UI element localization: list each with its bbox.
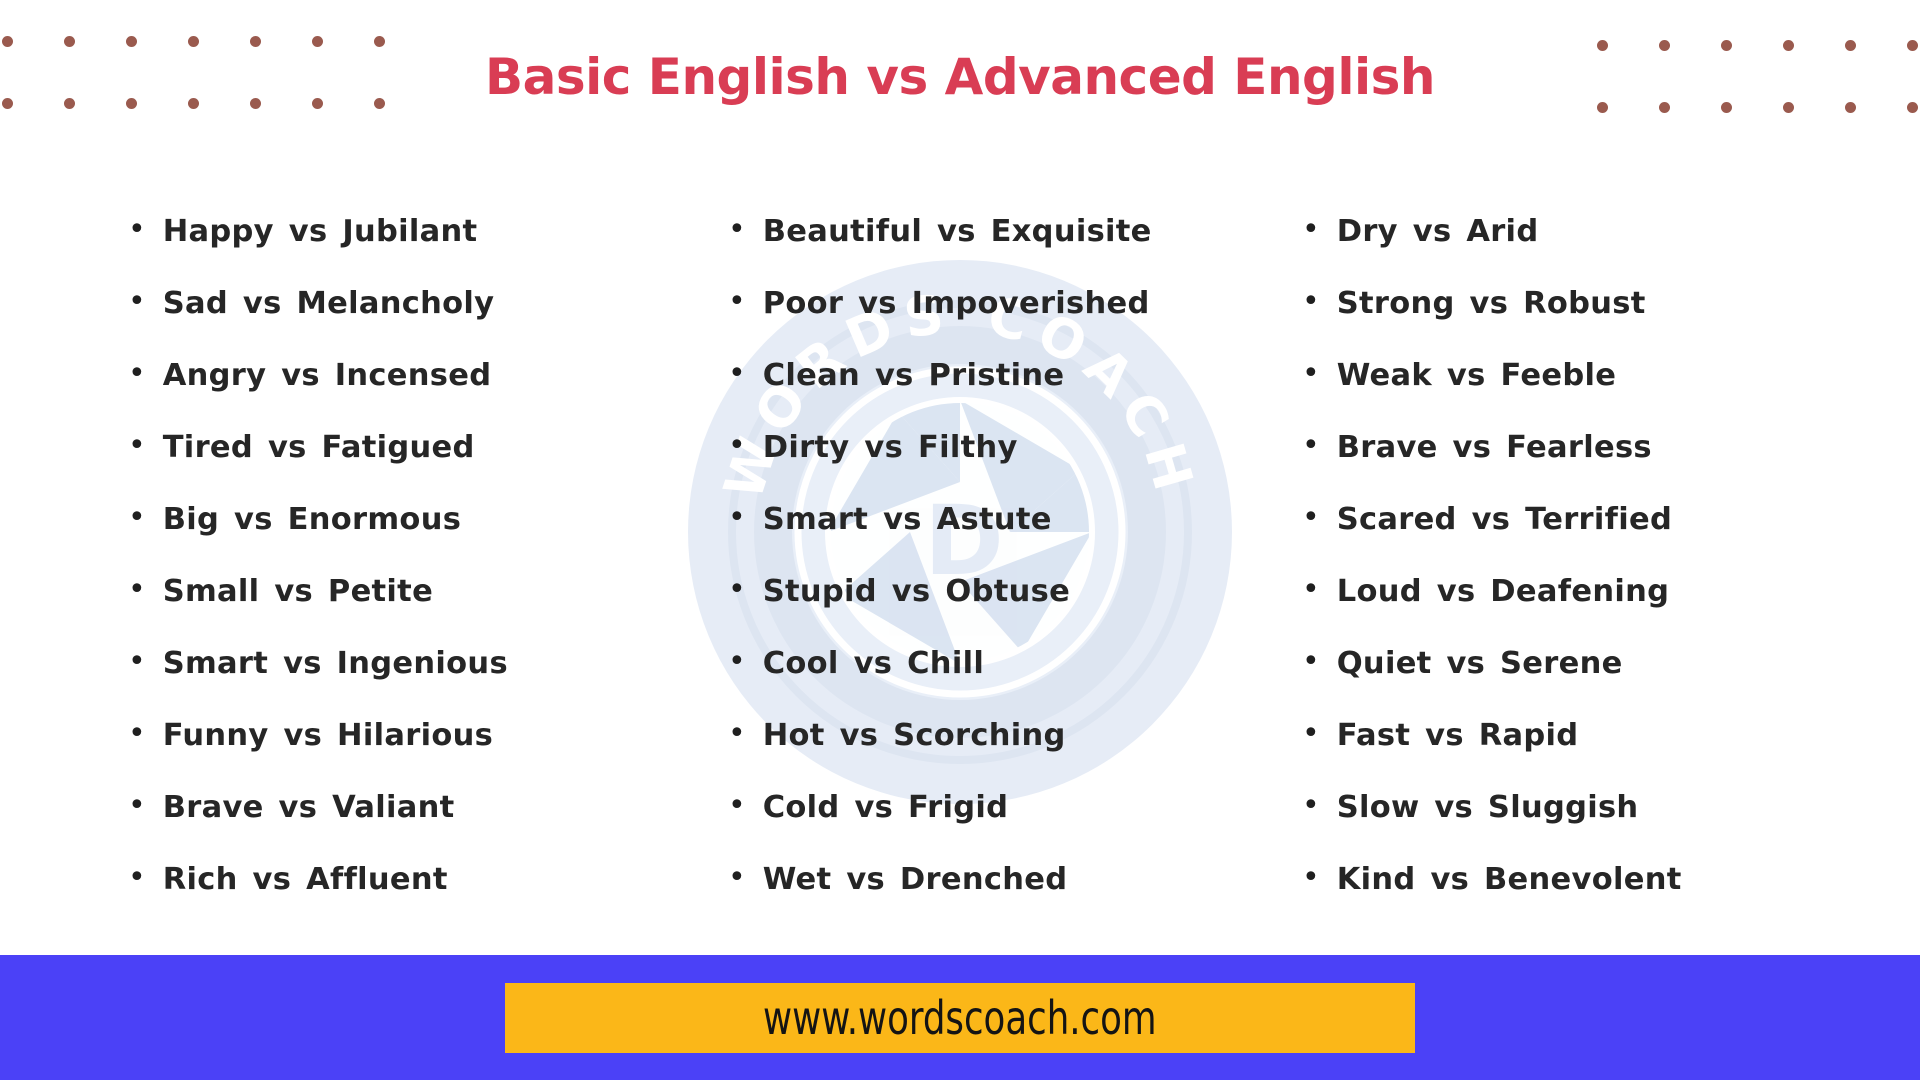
- word-pair-item: •Angry vs Incensed: [128, 340, 600, 412]
- bullet-icon: •: [128, 266, 146, 338]
- word-pair-label: Quiet vs Serene: [1337, 628, 1623, 700]
- bullet-icon: •: [128, 842, 146, 914]
- word-pair-label: Smart vs Ingenious: [163, 628, 508, 700]
- word-pair-label: Happy vs Jubilant: [163, 196, 478, 268]
- decorative-dot: [64, 36, 75, 47]
- word-pair-item: •Quiet vs Serene: [1302, 628, 1840, 700]
- word-pair-item: •Fast vs Rapid: [1302, 700, 1840, 772]
- word-pair-item: •Cold vs Frigid: [728, 772, 1200, 844]
- word-pair-columns: •Happy vs Jubilant•Sad vs Melancholy•Ang…: [0, 196, 1920, 926]
- word-pair-label: Sad vs Melancholy: [163, 268, 495, 340]
- word-pair-item: •Poor vs Impoverished: [728, 268, 1200, 340]
- bullet-icon: •: [728, 194, 746, 266]
- footer-url-box[interactable]: www.wordscoach.com: [505, 983, 1415, 1053]
- word-column-3: •Dry vs Arid•Strong vs Robust•Weak vs Fe…: [1200, 196, 1840, 926]
- word-pair-label: Loud vs Deafening: [1337, 556, 1670, 628]
- bullet-icon: •: [1302, 410, 1320, 482]
- bullet-icon: •: [128, 554, 146, 626]
- bullet-icon: •: [1302, 194, 1320, 266]
- word-pair-label: Strong vs Robust: [1337, 268, 1646, 340]
- word-pair-label: Cold vs Frigid: [763, 772, 1009, 844]
- word-pair-label: Rich vs Affluent: [163, 844, 448, 916]
- page-title: Basic English vs Advanced English: [0, 48, 1920, 106]
- word-column-1: •Happy vs Jubilant•Sad vs Melancholy•Ang…: [0, 196, 600, 926]
- bullet-icon: •: [1302, 266, 1320, 338]
- word-pair-label: Clean vs Pristine: [763, 340, 1065, 412]
- bullet-icon: •: [728, 410, 746, 482]
- word-pair-item: •Smart vs Astute: [728, 484, 1200, 556]
- word-pair-item: •Smart vs Ingenious: [128, 628, 600, 700]
- word-pair-item: •Dirty vs Filthy: [728, 412, 1200, 484]
- bullet-icon: •: [728, 770, 746, 842]
- word-pair-item: •Funny vs Hilarious: [128, 700, 600, 772]
- bullet-icon: •: [728, 842, 746, 914]
- word-pair-item: •Cool vs Chill: [728, 628, 1200, 700]
- word-pair-label: Funny vs Hilarious: [163, 700, 493, 772]
- bullet-icon: •: [728, 626, 746, 698]
- word-pair-item: •Weak vs Feeble: [1302, 340, 1840, 412]
- word-pair-label: Brave vs Valiant: [163, 772, 455, 844]
- bullet-icon: •: [1302, 338, 1320, 410]
- bullet-icon: •: [1302, 626, 1320, 698]
- word-pair-item: •Happy vs Jubilant: [128, 196, 600, 268]
- bullet-icon: •: [128, 194, 146, 266]
- word-column-2: •Beautiful vs Exquisite•Poor vs Impoveri…: [600, 196, 1200, 926]
- word-pair-item: •Dry vs Arid: [1302, 196, 1840, 268]
- word-pair-item: •Brave vs Fearless: [1302, 412, 1840, 484]
- footer-url-text: www.wordscoach.com: [763, 991, 1157, 1045]
- word-pair-item: •Beautiful vs Exquisite: [728, 196, 1200, 268]
- word-pair-item: •Tired vs Fatigued: [128, 412, 600, 484]
- word-pair-item: •Hot vs Scorching: [728, 700, 1200, 772]
- bullet-icon: •: [728, 266, 746, 338]
- footer-bar: www.wordscoach.com: [0, 955, 1920, 1080]
- word-pair-label: Fast vs Rapid: [1337, 700, 1579, 772]
- bullet-icon: •: [728, 554, 746, 626]
- bullet-icon: •: [1302, 698, 1320, 770]
- word-pair-item: •Sad vs Melancholy: [128, 268, 600, 340]
- word-pair-label: Weak vs Feeble: [1337, 340, 1617, 412]
- word-pair-item: •Small vs Petite: [128, 556, 600, 628]
- bullet-icon: •: [128, 626, 146, 698]
- word-pair-item: •Scared vs Terrified: [1302, 484, 1840, 556]
- decorative-dot: [374, 36, 385, 47]
- bullet-icon: •: [1302, 554, 1320, 626]
- word-pair-label: Scared vs Terrified: [1337, 484, 1672, 556]
- bullet-icon: •: [1302, 770, 1320, 842]
- word-pair-label: Slow vs Sluggish: [1337, 772, 1639, 844]
- word-pair-label: Dirty vs Filthy: [763, 412, 1018, 484]
- decorative-dot: [312, 36, 323, 47]
- word-pair-label: Beautiful vs Exquisite: [763, 196, 1152, 268]
- word-pair-label: Big vs Enormous: [163, 484, 461, 556]
- word-pair-item: •Slow vs Sluggish: [1302, 772, 1840, 844]
- decorative-dot: [188, 36, 199, 47]
- decorative-dot: [2, 36, 13, 47]
- bullet-icon: •: [128, 410, 146, 482]
- word-pair-item: •Clean vs Pristine: [728, 340, 1200, 412]
- word-pair-item: •Brave vs Valiant: [128, 772, 600, 844]
- word-pair-item: •Wet vs Drenched: [728, 844, 1200, 916]
- word-pair-label: Stupid vs Obtuse: [763, 556, 1070, 628]
- word-pair-item: •Big vs Enormous: [128, 484, 600, 556]
- word-pair-label: Poor vs Impoverished: [763, 268, 1150, 340]
- bullet-icon: •: [128, 338, 146, 410]
- word-pair-label: Kind vs Benevolent: [1337, 844, 1682, 916]
- word-pair-label: Brave vs Fearless: [1337, 412, 1652, 484]
- bullet-icon: •: [728, 338, 746, 410]
- word-pair-label: Smart vs Astute: [763, 484, 1052, 556]
- word-pair-item: •Rich vs Affluent: [128, 844, 600, 916]
- word-pair-label: Angry vs Incensed: [163, 340, 492, 412]
- word-pair-label: Tired vs Fatigued: [163, 412, 475, 484]
- word-pair-item: •Stupid vs Obtuse: [728, 556, 1200, 628]
- word-pair-label: Small vs Petite: [163, 556, 433, 628]
- decorative-dot: [250, 36, 261, 47]
- bullet-icon: •: [128, 698, 146, 770]
- bullet-icon: •: [1302, 482, 1320, 554]
- word-pair-label: Hot vs Scorching: [763, 700, 1066, 772]
- bullet-icon: •: [128, 482, 146, 554]
- word-pair-item: •Kind vs Benevolent: [1302, 844, 1840, 916]
- decorative-dot: [126, 36, 137, 47]
- word-pair-item: •Strong vs Robust: [1302, 268, 1840, 340]
- bullet-icon: •: [728, 482, 746, 554]
- bullet-icon: •: [728, 698, 746, 770]
- word-pair-label: Dry vs Arid: [1337, 196, 1539, 268]
- bullet-icon: •: [128, 770, 146, 842]
- word-pair-label: Cool vs Chill: [763, 628, 984, 700]
- bullet-icon: •: [1302, 842, 1320, 914]
- word-pair-label: Wet vs Drenched: [763, 844, 1068, 916]
- word-pair-item: •Loud vs Deafening: [1302, 556, 1840, 628]
